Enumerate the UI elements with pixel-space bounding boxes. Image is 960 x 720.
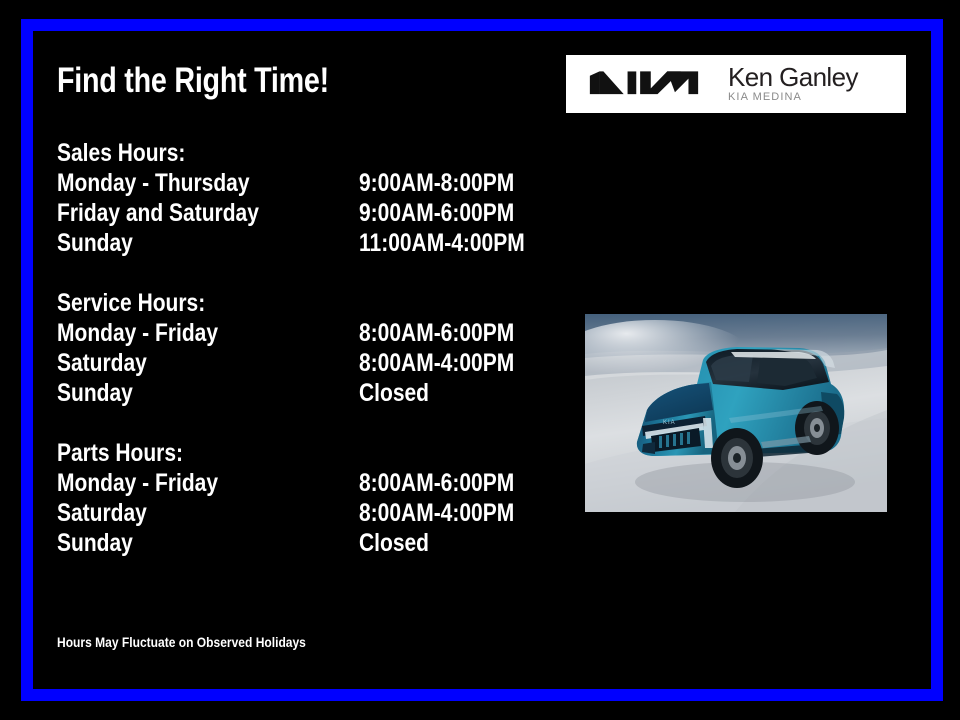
hours-row-time: 8:00AM-6:00PM bbox=[359, 468, 514, 498]
hours-row-days: Sunday bbox=[57, 528, 311, 558]
hours-row: Monday - Friday8:00AM-6:00PM bbox=[57, 318, 527, 348]
hours-row: Friday and Saturday9:00AM-6:00PM bbox=[57, 198, 527, 228]
hours-row-time: 11:00AM-4:00PM bbox=[359, 228, 525, 258]
hours-row-time: 8:00AM-6:00PM bbox=[359, 318, 514, 348]
hours-row-time: Closed bbox=[359, 378, 429, 408]
hours-row: Saturday8:00AM-4:00PM bbox=[57, 498, 527, 528]
page-title: Find the Right Time! bbox=[57, 61, 329, 101]
hours-row-time: 8:00AM-4:00PM bbox=[359, 348, 514, 378]
dealer-logo: Ken Ganley KIA MEDINA bbox=[566, 55, 906, 113]
hours-row-time: 8:00AM-4:00PM bbox=[359, 498, 514, 528]
hours-row: Sunday11:00AM-4:00PM bbox=[57, 228, 527, 258]
dealer-logo-text: Ken Ganley KIA MEDINA bbox=[728, 64, 858, 104]
hours-row-time: 9:00AM-6:00PM bbox=[359, 198, 514, 228]
kia-logo-icon bbox=[586, 69, 702, 99]
hours-row-days: Sunday bbox=[57, 378, 311, 408]
hours-section-heading: Parts Hours: bbox=[57, 438, 452, 468]
hours-section: Sales Hours:Monday - Thursday9:00AM-8:00… bbox=[57, 138, 527, 258]
hours-row-days: Sunday bbox=[57, 228, 311, 258]
hours-section: Parts Hours:Monday - Friday8:00AM-6:00PM… bbox=[57, 438, 527, 558]
hours-row-days: Saturday bbox=[57, 348, 311, 378]
hours-row-days: Monday - Friday bbox=[57, 468, 311, 498]
hours-row-days: Saturday bbox=[57, 498, 311, 528]
dealer-subtitle: KIA MEDINA bbox=[728, 90, 858, 104]
svg-text:KIA: KIA bbox=[663, 420, 676, 426]
hours-list: Sales Hours:Monday - Thursday9:00AM-8:00… bbox=[57, 138, 527, 558]
slide-canvas: Find the Right Time! Ken Ganley KIA MEDI… bbox=[0, 0, 960, 720]
hours-row-time: Closed bbox=[359, 528, 429, 558]
hours-row-days: Friday and Saturday bbox=[57, 198, 311, 228]
hours-row-time: 9:00AM-8:00PM bbox=[359, 168, 514, 198]
hours-row-days: Monday - Thursday bbox=[57, 168, 311, 198]
holiday-disclaimer: Hours May Fluctuate on Observed Holidays bbox=[57, 634, 306, 650]
dealer-name: Ken Ganley bbox=[728, 64, 858, 90]
hours-row: Monday - Thursday9:00AM-8:00PM bbox=[57, 168, 527, 198]
hours-section-heading: Sales Hours: bbox=[57, 138, 452, 168]
hours-row: SundayClosed bbox=[57, 528, 527, 558]
kia-ev9-suv-photo: KIA bbox=[585, 314, 887, 512]
hours-row: SundayClosed bbox=[57, 378, 527, 408]
hours-section: Service Hours:Monday - Friday8:00AM-6:00… bbox=[57, 288, 527, 408]
hours-row-days: Monday - Friday bbox=[57, 318, 311, 348]
hours-row: Monday - Friday8:00AM-6:00PM bbox=[57, 468, 527, 498]
hours-row: Saturday8:00AM-4:00PM bbox=[57, 348, 527, 378]
hours-section-heading: Service Hours: bbox=[57, 288, 452, 318]
